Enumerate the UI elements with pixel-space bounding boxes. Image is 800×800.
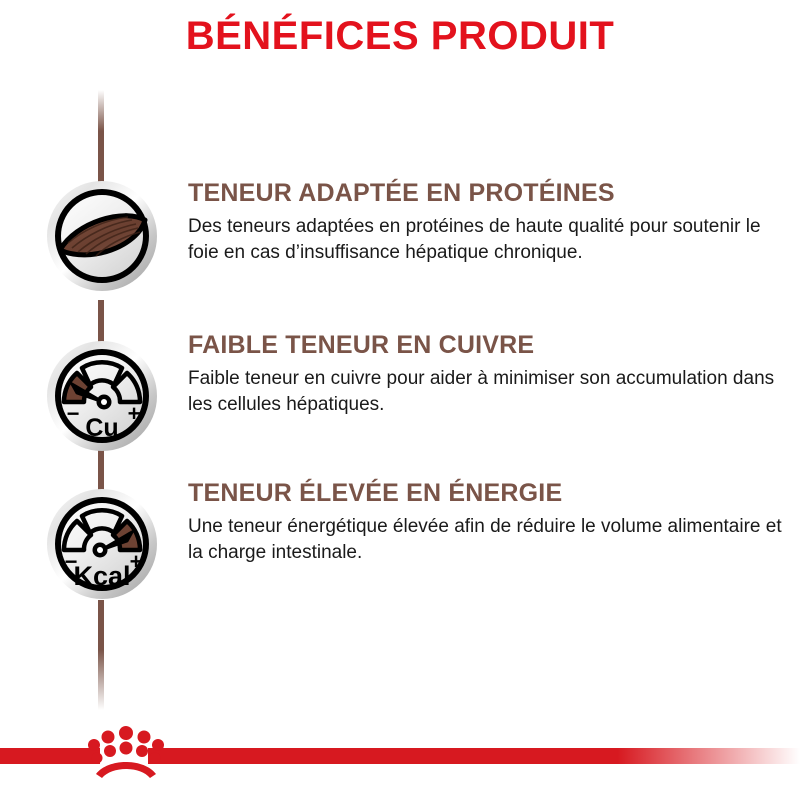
gauge-label: Kcal <box>73 561 130 591</box>
gauge-label: Cu <box>85 414 118 442</box>
kcal-gauge-icon: − + Kcal <box>46 488 158 600</box>
benefit-heading: FAIBLE TENEUR EN CUIVRE <box>188 332 786 360</box>
muscle-fiber-icon <box>46 180 158 292</box>
benefit-heading: TENEUR ADAPTÉE EN PROTÉINES <box>188 180 786 208</box>
benefit-body: Des teneurs adaptées en protéines de hau… <box>188 214 786 268</box>
gauge-plus-sign: + <box>128 401 141 426</box>
benefit-text-protein: TENEUR ADAPTÉE EN PROTÉINES Des teneurs … <box>188 180 786 267</box>
connector-line-bottom <box>98 600 104 710</box>
benefit-heading: TENEUR ÉLEVÉE EN ÉNERGIE <box>188 480 786 508</box>
footer-bar-right <box>148 748 800 764</box>
benefit-body: Une teneur énergétique élevée afin de ré… <box>188 514 786 568</box>
benefit-text-copper: FAIBLE TENEUR EN CUIVRE Faible teneur en… <box>188 332 786 419</box>
copper-gauge-icon: − + Cu <box>46 340 158 452</box>
benefit-text-energy: TENEUR ÉLEVÉE EN ÉNERGIE Une teneur éner… <box>188 480 786 567</box>
page-title: BÉNÉFICES PRODUIT <box>0 16 800 56</box>
product-benefits-infographic: BÉNÉFICES PRODUIT <box>0 0 800 800</box>
gauge-plus-sign: + <box>130 549 143 574</box>
footer-bar-left <box>0 748 100 764</box>
royal-canin-crown-logo <box>88 722 164 784</box>
benefit-body: Faible teneur en cuivre pour aider à min… <box>188 366 786 420</box>
gauge-minus-sign: − <box>67 401 80 426</box>
